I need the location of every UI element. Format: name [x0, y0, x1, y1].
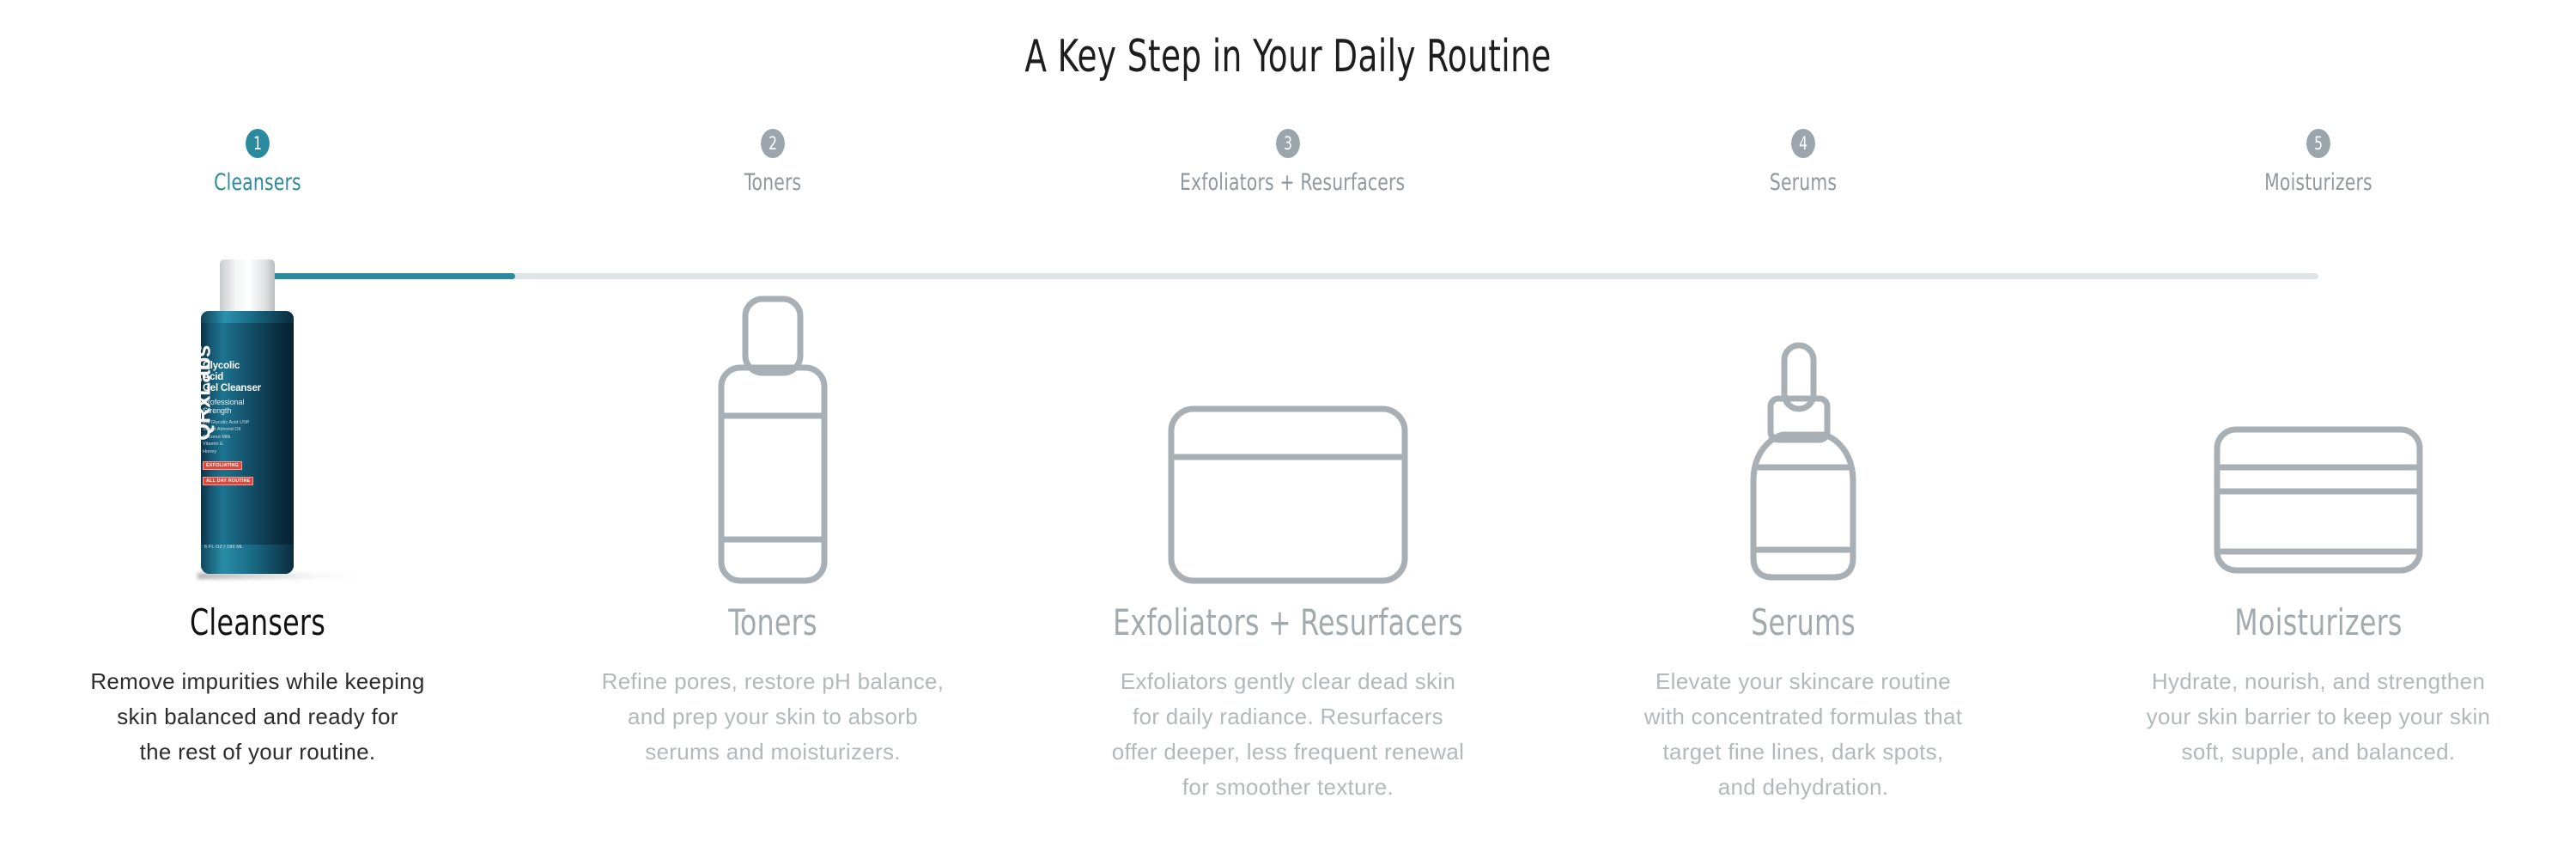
desc-line: Refine pores, restore pH balance, [515, 664, 1030, 699]
desc-line: the rest of your routine. [0, 734, 515, 770]
serum-illustration [1546, 241, 2061, 601]
category-title: Toners [556, 601, 989, 643]
desc-line: for smoother texture. [1030, 770, 1546, 805]
desc-line: and dehydration. [1546, 770, 2061, 805]
desc-line: Remove impurities while keeping [0, 664, 515, 699]
stepper-step-5[interactable]: 5 Moisturizers [2190, 129, 2447, 196]
category-column-exfoliators[interactable]: Exfoliators + Resurfacers Exfoliators ge… [1030, 241, 1546, 805]
category-description: Elevate your skincare routine with conce… [1546, 664, 2061, 805]
product-badge-routine: ALL DAY ROUTINE [203, 477, 253, 485]
step-number-badge[interactable]: 5 [2306, 129, 2330, 158]
routine-stepper: 1 Cleansers 2 Toners 3 Exfoliators + Res… [0, 129, 2576, 223]
ingredient-list: 5% Glycolic Acid USP Sweet Almond Oil Co… [203, 419, 261, 455]
stepper-step-2[interactable]: 2 Toners [644, 129, 902, 196]
step-label[interactable]: Exfoliators + Resurfacers [1180, 169, 1396, 196]
desc-line: Elevate your skincare routine [1546, 664, 2061, 699]
jar-outline-icon [1159, 388, 1417, 594]
desc-line: serums and moisturizers. [515, 734, 1030, 770]
product-name-line1: Glycolic Acid [203, 361, 261, 383]
routine-steps-page: A Key Step in Your Daily Routine 1 Clean… [0, 0, 2576, 841]
stepper-step-3[interactable]: 3 Exfoliators + Resurfacers [1159, 129, 1417, 196]
moisturizer-illustration [2061, 241, 2576, 601]
product-badge-exfoliating: EXFOLIATING [203, 461, 242, 470]
product-category-columns: QRxLabs Glycolic Acid Gel Cleanser Profe… [0, 241, 2576, 841]
step-label[interactable]: Cleansers [149, 169, 366, 196]
ingredient-item: 5% Glycolic Acid USP [203, 419, 261, 426]
category-description: Refine pores, restore pH balance, and pr… [515, 664, 1030, 770]
toner-bottle-outline-icon [696, 285, 850, 594]
step-number-badge[interactable]: 2 [761, 129, 785, 158]
category-column-cleansers[interactable]: QRxLabs Glycolic Acid Gel Cleanser Profe… [0, 241, 515, 770]
product-name-line2: Gel Cleanser [203, 383, 261, 394]
ingredient-item: Sweet Almond Oil [203, 426, 261, 433]
bottle-label: Glycolic Acid Gel Cleanser Professional … [203, 361, 261, 486]
desc-line: and prep your skin to absorb [515, 699, 1030, 734]
step-number-badge[interactable]: 1 [246, 129, 270, 158]
category-title: Exfoliators + Resurfacers [1072, 601, 1504, 643]
category-column-moisturizers[interactable]: Moisturizers Hydrate, nourish, and stren… [2061, 241, 2576, 770]
category-column-serums[interactable]: Serums Elevate your skincare routine wit… [1546, 241, 2061, 805]
exfoliator-illustration [1030, 241, 1546, 601]
bottle-shadow [197, 573, 361, 579]
desc-line: Exfoliators gently clear dead skin [1030, 664, 1546, 699]
desc-line: target fine lines, dark spots, [1546, 734, 2061, 770]
moisturizer-jar-outline-icon [2207, 405, 2430, 594]
category-title: Serums [1587, 601, 2020, 643]
category-title: Moisturizers [2102, 601, 2535, 643]
stepper-step-4[interactable]: 4 Serums [1674, 129, 1932, 196]
desc-line: your skin barrier to keep your skin [2061, 699, 2576, 734]
ingredient-item: Honey [203, 448, 261, 455]
desc-line: offer deeper, less frequent renewal [1030, 734, 1546, 770]
product-subtitle: Professional Strength [203, 398, 261, 415]
desc-line: skin balanced and ready for [0, 699, 515, 734]
product-volume: 6 FL OZ / 180 ML [204, 545, 243, 550]
category-title: Cleansers [41, 601, 474, 643]
step-number-badge[interactable]: 3 [1276, 129, 1300, 158]
category-column-toners[interactable]: Toners Refine pores, restore pH balance,… [515, 241, 1030, 770]
category-description: Exfoliators gently clear dead skin for d… [1030, 664, 1546, 805]
stepper-step-1[interactable]: 1 Cleansers [129, 129, 386, 196]
desc-line: for daily radiance. Resurfacers [1030, 699, 1546, 734]
bottle-neck-highlight [201, 311, 294, 323]
desc-line: with concentrated formulas that [1546, 699, 2061, 734]
page-title: A Key Step in Your Daily Routine [258, 31, 2318, 82]
dropper-bottle-outline-icon [1726, 337, 1880, 594]
category-description: Remove impurities while keeping skin bal… [0, 664, 515, 770]
desc-line: Hydrate, nourish, and strengthen [2061, 664, 2576, 699]
ingredient-item: Coconut Milk [203, 434, 261, 441]
step-label[interactable]: Serums [1695, 169, 1911, 196]
cleanser-product-image: QRxLabs Glycolic Acid Gel Cleanser Profe… [0, 241, 515, 601]
desc-line: soft, supple, and balanced. [2061, 734, 2576, 770]
ingredient-item: Vitamin E [203, 441, 261, 448]
step-label[interactable]: Moisturizers [2210, 169, 2427, 196]
bottle-cap [220, 259, 275, 316]
category-description: Hydrate, nourish, and strengthen your sk… [2061, 664, 2576, 770]
toner-illustration [515, 241, 1030, 601]
step-label[interactable]: Toners [665, 169, 881, 196]
step-number-badge[interactable]: 4 [1791, 129, 1815, 158]
